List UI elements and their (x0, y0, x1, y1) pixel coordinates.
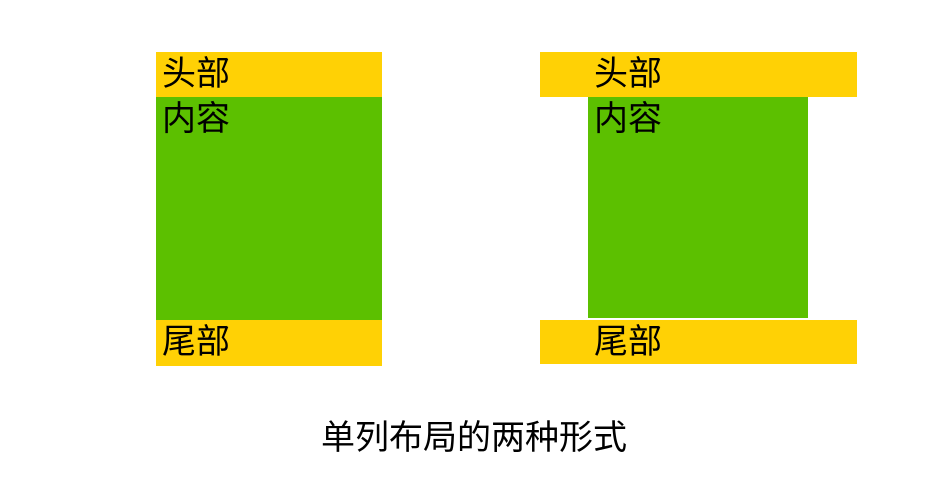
left-content-block: 内容 (156, 97, 382, 320)
right-content-block: 内容 (588, 97, 808, 318)
left-header-label: 头部 (162, 54, 230, 94)
right-footer-block: 尾部 (540, 320, 857, 364)
left-header-block: 头部 (156, 52, 382, 97)
diagram-canvas: 头部 内容 尾部 头部 内容 尾部 单列布局的两种形式 (0, 0, 948, 488)
left-footer-label: 尾部 (162, 322, 230, 362)
left-content-label: 内容 (162, 99, 230, 139)
right-content-label: 内容 (594, 99, 662, 139)
right-footer-label: 尾部 (594, 322, 662, 362)
diagram-wide-bars: 头部 内容 尾部 (540, 52, 857, 364)
diagram-uniform-width: 头部 内容 尾部 (156, 52, 382, 366)
left-footer-block: 尾部 (156, 320, 382, 366)
diagram-caption: 单列布局的两种形式 (0, 415, 948, 461)
right-header-block: 头部 (540, 52, 857, 97)
right-header-label: 头部 (594, 54, 662, 94)
